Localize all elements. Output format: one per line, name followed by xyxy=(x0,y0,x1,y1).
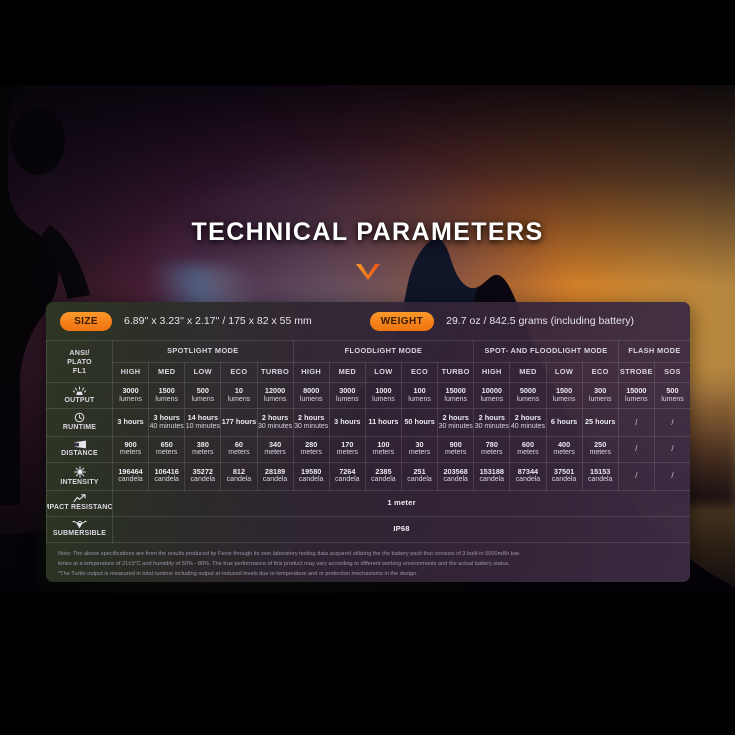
cell-empty-slash: / xyxy=(671,471,673,480)
cell-2-1: 650meters xyxy=(149,436,185,462)
cell-value: 8000 xyxy=(294,387,329,396)
cell-value: 5000 xyxy=(510,387,545,396)
weight-group: WEIGHT 29.7 oz / 842.5 grams (including … xyxy=(370,312,634,331)
cell-3-9: 203568candela xyxy=(438,462,474,490)
cell-unit: meters xyxy=(510,449,545,457)
cell-3-7: 2385candela xyxy=(365,462,401,490)
cell-2-3: 60meters xyxy=(221,436,257,462)
column-header-1-3: ECO xyxy=(402,363,438,383)
cell-value: 30 xyxy=(402,441,437,450)
cell-empty-slash: / xyxy=(671,418,673,427)
cell-unit: lumens xyxy=(294,396,329,404)
table-head: ANSI/PLATOFL1 SPOTLIGHT MODEFLOODLIGHT M… xyxy=(47,341,691,383)
cell-value: 14 hours xyxy=(185,414,220,423)
cell-unit: meters xyxy=(438,449,473,457)
cell-unit: candela xyxy=(366,476,401,484)
cell-value: 780 xyxy=(474,441,509,450)
cell-0-10: 10000lumens xyxy=(474,383,510,409)
cell-1-8: 50 hours xyxy=(402,409,438,436)
cell-value: 2 hours xyxy=(294,414,329,423)
row-label-text: SUBMERSIBLE xyxy=(53,530,106,538)
row-label-content: DISTANCE xyxy=(47,438,112,460)
row-label-content: SUBMERSIBLE xyxy=(47,518,112,540)
table-row: IMPACT RESISTANCE1 meter xyxy=(47,490,691,516)
cell-unit: lumens xyxy=(113,396,148,404)
weight-value: 29.7 oz / 842.5 grams (including battery… xyxy=(446,315,634,327)
group-header-2: SPOT- AND FLOODLIGHT MODE xyxy=(474,341,619,363)
cell-value: 650 xyxy=(149,441,184,450)
column-header-3-0: STROBE xyxy=(618,363,654,383)
cell-value: 400 xyxy=(547,441,582,450)
cell-2-15: / xyxy=(654,436,690,462)
row-label-content: OUTPUT xyxy=(47,384,112,407)
cell-3-1: 106416candela xyxy=(149,462,185,490)
cell-unit: lumens xyxy=(474,396,509,404)
cell-2-6: 170meters xyxy=(329,436,365,462)
column-header-0-4: TURBO xyxy=(257,363,293,383)
cell-unit: lumens xyxy=(619,396,654,404)
cell-unit: meters xyxy=(547,449,582,457)
row-label-text: OUTPUT xyxy=(65,397,95,405)
cell-unit: candela xyxy=(547,476,582,484)
cell-value: 2 hours xyxy=(510,414,545,423)
cell-value: 19580 xyxy=(294,468,329,477)
cell-value: 100 xyxy=(366,441,401,450)
cell-value: 500 xyxy=(655,387,690,396)
group-header-1: FLOODLIGHT MODE xyxy=(293,341,474,363)
cell-2-14: / xyxy=(618,436,654,462)
cell-unit: candela xyxy=(474,476,509,484)
column-header-2-3: ECO xyxy=(582,363,618,383)
cell-1-6: 3 hours xyxy=(329,409,365,436)
cell-value-2: 30 minutes xyxy=(438,423,473,431)
row-label-submersible: SUBMERSIBLE xyxy=(47,516,113,542)
cell-value: 3000 xyxy=(330,387,365,396)
summary-row: SIZE 6.89'' x 3.23'' x 2.17'' / 175 x 82… xyxy=(46,302,690,340)
cell-value-2: 30 minutes xyxy=(474,423,509,431)
cell-1-13: 25 hours xyxy=(582,409,618,436)
cell-unit: candela xyxy=(185,476,220,484)
weight-pill-label: WEIGHT xyxy=(370,312,434,331)
starburst-intensity-icon xyxy=(74,466,86,478)
cell-3-12: 37501candela xyxy=(546,462,582,490)
row-label-distance: DISTANCE xyxy=(47,436,113,462)
cell-unit: candela xyxy=(258,476,293,484)
cell-3-13: 15153candela xyxy=(582,462,618,490)
cell-1-11: 2 hours40 minutes xyxy=(510,409,546,436)
cell-value: 500 xyxy=(185,387,220,396)
footnote-block: Note: The above specifications are from … xyxy=(46,543,690,580)
cell-unit: meters xyxy=(258,449,293,457)
cell-empty-slash: / xyxy=(635,471,637,480)
cell-1-15: / xyxy=(654,409,690,436)
footnote-line-1: Note: The above specifications are from … xyxy=(58,550,678,560)
row-label-text: DISTANCE xyxy=(61,450,98,458)
column-header-0-0: HIGH xyxy=(113,363,149,383)
cell-value: 600 xyxy=(510,441,545,450)
row-label-content: IMPACT RESISTANCE xyxy=(47,492,112,514)
sunburst-icon xyxy=(73,386,86,396)
cell-value-2: 40 minutes xyxy=(510,423,545,431)
sub-header-row: HIGHMEDLOWECOTURBOHIGHMEDLOWECOTURBOHIGH… xyxy=(47,363,691,383)
footnote-line-3: *The Turbo output is measured in total r… xyxy=(58,570,678,580)
cell-3-14: / xyxy=(618,462,654,490)
cell-value: 1000 xyxy=(366,387,401,396)
cell-0-8: 100lumens xyxy=(402,383,438,409)
cell-unit: lumens xyxy=(330,396,365,404)
column-header-0-1: MED xyxy=(149,363,185,383)
cell-0-0: 3000lumens xyxy=(113,383,149,409)
cell-unit: candela xyxy=(583,476,618,484)
cell-unit: lumens xyxy=(149,396,184,404)
specifications-table: ANSI/PLATOFL1 SPOTLIGHT MODEFLOODLIGHT M… xyxy=(46,340,690,543)
cell-2-13: 250meters xyxy=(582,436,618,462)
cell-1-12: 6 hours xyxy=(546,409,582,436)
cell-value: 170 xyxy=(330,441,365,450)
cell-value: 300 xyxy=(583,387,618,396)
cell-0-12: 1500lumens xyxy=(546,383,582,409)
cell-value: 15153 xyxy=(583,468,618,477)
page-title: TECHNICAL PARAMETERS xyxy=(0,218,735,247)
clock-icon xyxy=(74,412,85,423)
cell-value: 2385 xyxy=(366,468,401,477)
column-header-2-1: MED xyxy=(510,363,546,383)
cell-value: 10 xyxy=(221,387,256,396)
cell-1-2: 14 hours10 minutes xyxy=(185,409,221,436)
cell-value: 28189 xyxy=(258,468,293,477)
cell-3-10: 153188candela xyxy=(474,462,510,490)
row-label-output: OUTPUT xyxy=(47,383,113,409)
cell-empty-slash: / xyxy=(635,444,637,453)
ansi-plato-line-1: ANSI/ xyxy=(47,348,112,357)
cell-value: 3 hours xyxy=(330,418,365,427)
cell-0-6: 3000lumens xyxy=(329,383,365,409)
row-label-text: RUNTIME xyxy=(63,424,96,432)
cell-value: 60 xyxy=(221,441,256,450)
cell-unit: meters xyxy=(221,449,256,457)
cell-2-0: 900meters xyxy=(113,436,149,462)
cell-value: 25 hours xyxy=(583,418,618,427)
table-row: SUBMERSIBLEIP68 xyxy=(47,516,691,542)
column-header-1-0: HIGH xyxy=(293,363,329,383)
cell-1-10: 2 hours30 minutes xyxy=(474,409,510,436)
column-header-0-2: LOW xyxy=(185,363,221,383)
cell-2-5: 280meters xyxy=(293,436,329,462)
cell-3-2: 35272candela xyxy=(185,462,221,490)
table-row: DISTANCE900meters650meters380meters60met… xyxy=(47,436,691,462)
cell-value: 2 hours xyxy=(474,414,509,423)
cell-0-4: 12000lumens xyxy=(257,383,293,409)
cell-value: 1500 xyxy=(149,387,184,396)
cell-unit: meters xyxy=(149,449,184,457)
ansi-plato-line-3: FL1 xyxy=(47,366,112,375)
cell-unit: candela xyxy=(510,476,545,484)
cell-unit: candela xyxy=(113,476,148,484)
cell-value: 280 xyxy=(294,441,329,450)
column-header-1-1: MED xyxy=(329,363,365,383)
cell-0-5: 8000lumens xyxy=(293,383,329,409)
cell-unit: meters xyxy=(474,449,509,457)
cell-2-4: 340meters xyxy=(257,436,293,462)
cell-value-2: 30 minutes xyxy=(258,423,293,431)
cell-0-13: 300lumens xyxy=(582,383,618,409)
size-value: 6.89'' x 3.23'' x 2.17'' / 175 x 82 x 55… xyxy=(124,315,312,327)
cell-unit: candela xyxy=(402,476,437,484)
cell-unit: lumens xyxy=(583,396,618,404)
cell-value: 196464 xyxy=(113,468,148,477)
cell-value: 10000 xyxy=(474,387,509,396)
chevron-down-icon[interactable] xyxy=(355,263,381,281)
cell-unit: candela xyxy=(330,476,365,484)
beam-distance-icon xyxy=(73,440,87,449)
cell-unit: candela xyxy=(149,476,184,484)
cell-0-14: 15000lumens xyxy=(618,383,654,409)
group-header-3: FLASH MODE xyxy=(618,341,690,363)
fullwidth-value-0: 1 meter xyxy=(113,490,691,516)
cell-unit: lumens xyxy=(438,396,473,404)
cell-2-7: 100meters xyxy=(365,436,401,462)
group-header-row: ANSI/PLATOFL1 SPOTLIGHT MODEFLOODLIGHT M… xyxy=(47,341,691,363)
hero-heading-block: TECHNICAL PARAMETERS xyxy=(0,218,735,286)
cell-value: 15000 xyxy=(619,387,654,396)
cell-value: 380 xyxy=(185,441,220,450)
cell-0-9: 15000lumens xyxy=(438,383,474,409)
cell-unit: lumens xyxy=(366,396,401,404)
row-label-content: RUNTIME xyxy=(47,410,112,434)
cell-unit: meters xyxy=(113,449,148,457)
cell-value: 812 xyxy=(221,468,256,477)
technical-parameters-panel: SIZE 6.89'' x 3.23'' x 2.17'' / 175 x 82… xyxy=(46,302,690,582)
cell-value-2: 10 minutes xyxy=(185,423,220,431)
cell-1-4: 2 hours30 minutes xyxy=(257,409,293,436)
cell-3-6: 7264candela xyxy=(329,462,365,490)
cell-value: 7264 xyxy=(330,468,365,477)
column-header-3-1: SOS xyxy=(654,363,690,383)
row-label-intensity: INTENSITY xyxy=(47,462,113,490)
cell-3-15: / xyxy=(654,462,690,490)
cell-value: 2 hours xyxy=(258,414,293,423)
cell-2-12: 400meters xyxy=(546,436,582,462)
column-header-1-4: TURBO xyxy=(438,363,474,383)
cell-0-7: 1000lumens xyxy=(365,383,401,409)
cell-unit: meters xyxy=(366,449,401,457)
cell-value: 87344 xyxy=(510,468,545,477)
cell-unit: meters xyxy=(402,449,437,457)
footnote-line-2: teries at a temperature of 21±3°C and hu… xyxy=(58,560,678,570)
row-label-impact-resistance: IMPACT RESISTANCE xyxy=(47,490,113,516)
cell-value: 2 hours xyxy=(438,414,473,423)
row-label-text: INTENSITY xyxy=(60,479,98,487)
fullwidth-value-1: IP68 xyxy=(113,516,691,542)
cell-0-11: 5000lumens xyxy=(510,383,546,409)
cell-3-4: 28189candela xyxy=(257,462,293,490)
impact-resistance-icon xyxy=(73,494,86,503)
cell-value: 251 xyxy=(402,468,437,477)
cell-2-9: 900meters xyxy=(438,436,474,462)
cell-unit: candela xyxy=(438,476,473,484)
cell-unit: meters xyxy=(185,449,220,457)
cell-value: 3000 xyxy=(113,387,148,396)
cell-1-0: 3 hours xyxy=(113,409,149,436)
cell-value: 37501 xyxy=(547,468,582,477)
table-row: OUTPUT3000lumens1500lumens500lumens10lum… xyxy=(47,383,691,409)
column-header-2-0: HIGH xyxy=(474,363,510,383)
column-header-1-2: LOW xyxy=(365,363,401,383)
cell-3-11: 87344candela xyxy=(510,462,546,490)
cell-value: 203568 xyxy=(438,468,473,477)
cell-value: 15000 xyxy=(438,387,473,396)
cell-unit: meters xyxy=(330,449,365,457)
cell-value: 900 xyxy=(438,441,473,450)
column-header-2-2: LOW xyxy=(546,363,582,383)
size-pill-label: SIZE xyxy=(60,312,112,331)
cell-value-2: 40 minutes xyxy=(149,423,184,431)
cell-unit: meters xyxy=(583,449,618,457)
cell-0-2: 500lumens xyxy=(185,383,221,409)
table-body: OUTPUT3000lumens1500lumens500lumens10lum… xyxy=(47,383,691,543)
column-header-0-3: ECO xyxy=(221,363,257,383)
cell-value: 3 hours xyxy=(113,418,148,427)
cell-value: 1500 xyxy=(547,387,582,396)
cell-value: 106416 xyxy=(149,468,184,477)
cell-1-3: 177 hours xyxy=(221,409,257,436)
page-stage: TECHNICAL PARAMETERS SIZE 6.89'' x 3.23'… xyxy=(0,0,735,735)
table-row: INTENSITY196464candela106416candela35272… xyxy=(47,462,691,490)
cell-2-2: 380meters xyxy=(185,436,221,462)
cell-unit: lumens xyxy=(402,396,437,404)
cell-value: 153188 xyxy=(474,468,509,477)
cell-unit: lumens xyxy=(258,396,293,404)
cell-3-5: 19580candela xyxy=(293,462,329,490)
cell-empty-slash: / xyxy=(635,418,637,427)
cell-value: 177 hours xyxy=(221,418,256,427)
cell-2-10: 780meters xyxy=(474,436,510,462)
cell-unit: candela xyxy=(294,476,329,484)
cell-0-1: 1500lumens xyxy=(149,383,185,409)
ansi-plato-label: ANSI/PLATOFL1 xyxy=(47,348,112,375)
cell-0-3: 10lumens xyxy=(221,383,257,409)
cell-1-7: 11 hours xyxy=(365,409,401,436)
cell-value: 6 hours xyxy=(547,418,582,427)
group-header-0: SPOTLIGHT MODE xyxy=(113,341,294,363)
cell-unit: candela xyxy=(221,476,256,484)
cell-value: 35272 xyxy=(185,468,220,477)
cell-value: 11 hours xyxy=(366,418,401,427)
cell-unit: lumens xyxy=(185,396,220,404)
cell-1-1: 3 hours40 minutes xyxy=(149,409,185,436)
cell-1-5: 2 hours30 minutes xyxy=(293,409,329,436)
cell-value: 340 xyxy=(258,441,293,450)
ansi-plato-line-2: PLATO xyxy=(47,357,112,366)
cell-3-8: 251candela xyxy=(402,462,438,490)
cell-unit: lumens xyxy=(655,396,690,404)
cell-3-3: 812candela xyxy=(221,462,257,490)
cell-value: 12000 xyxy=(258,387,293,396)
cell-value: 250 xyxy=(583,441,618,450)
cell-value: 50 hours xyxy=(402,418,437,427)
cell-value: 900 xyxy=(113,441,148,450)
row-label-runtime: RUNTIME xyxy=(47,409,113,436)
cell-1-9: 2 hours30 minutes xyxy=(438,409,474,436)
cell-0-15: 500lumens xyxy=(654,383,690,409)
cell-unit: meters xyxy=(294,449,329,457)
cell-3-0: 196464candela xyxy=(113,462,149,490)
cell-1-14: / xyxy=(618,409,654,436)
cell-unit: lumens xyxy=(547,396,582,404)
cell-value-2: 30 minutes xyxy=(294,423,329,431)
ansi-plato-corner-header: ANSI/PLATOFL1 xyxy=(47,341,113,383)
cell-unit: lumens xyxy=(221,396,256,404)
cell-2-11: 600meters xyxy=(510,436,546,462)
row-label-content: INTENSITY xyxy=(47,464,112,489)
cell-value: 3 hours xyxy=(149,414,184,423)
row-label-text: IMPACT RESISTANCE xyxy=(47,504,113,512)
table-row: RUNTIME3 hours3 hours40 minutes14 hours1… xyxy=(47,409,691,436)
cell-unit: lumens xyxy=(510,396,545,404)
cell-value: 100 xyxy=(402,387,437,396)
cell-2-8: 30meters xyxy=(402,436,438,462)
cell-empty-slash: / xyxy=(671,444,673,453)
water-submersible-icon xyxy=(72,520,87,529)
